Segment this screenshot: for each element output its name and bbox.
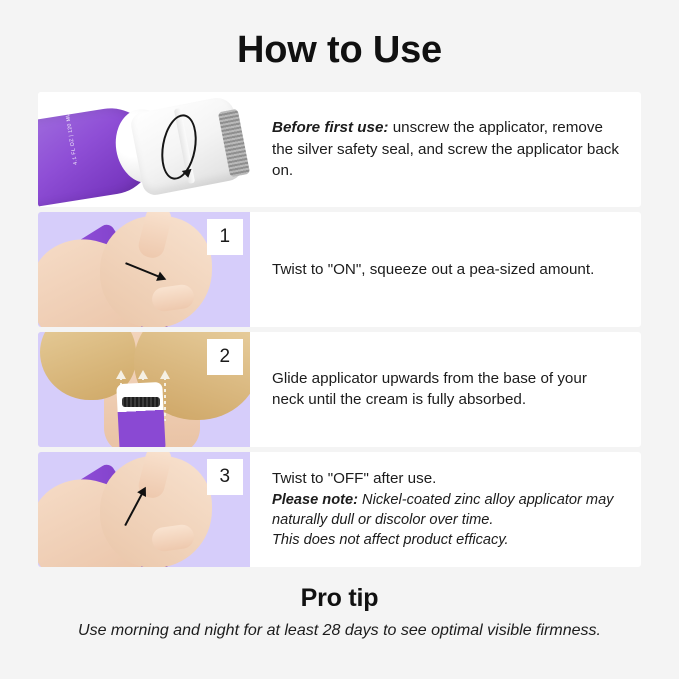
step-text-3: Twist to "OFF" after use. Please note: N…: [250, 452, 641, 567]
step-text-before-first-use: Before first use: unscrew the applicator…: [250, 92, 641, 207]
step-image-applicator-gliding-up-neck: 2: [38, 332, 250, 447]
page-title: How to Use: [0, 0, 679, 71]
how-to-use-infographic: How to Use 4.1 FL OZ | 120 ML Before fir: [0, 0, 679, 679]
step-image-hands-twisting-applicator-on: Hydrafirm APPLICATOR 1: [38, 212, 250, 327]
step-card-3: Hydrafirm APPLICATOR 3 Twist to "OFF" af…: [38, 452, 641, 567]
applicator-metal-roller: [122, 397, 160, 407]
step-text-2: Glide applicator upwards from the base o…: [250, 332, 641, 447]
step-card-1: Hydrafirm APPLICATOR 1 Twist to "ON", sq…: [38, 212, 641, 327]
step-instruction: Twist to "ON", squeeze out a pea-sized a…: [272, 259, 623, 281]
step-image-tube-and-applicator-unscrew: 4.1 FL OZ | 120 ML: [38, 92, 250, 207]
pro-tip-heading: Pro tip: [0, 584, 679, 613]
step-note-second-line: This does not affect product efficacy.: [272, 530, 623, 550]
product-applicator: [116, 382, 166, 447]
step-card-before-first-use: 4.1 FL OZ | 120 ML Before first use: uns…: [38, 92, 641, 207]
upward-arrow-icon: [164, 377, 166, 421]
pro-tip-text: Use morning and night for at least 28 da…: [0, 622, 679, 640]
step-number-badge: 3: [207, 459, 243, 495]
steps-list: 4.1 FL OZ | 120 ML Before first use: uns…: [38, 92, 641, 567]
illustration-unscrew-applicator: 4.1 FL OZ | 120 ML: [38, 92, 250, 207]
step-instruction: Glide applicator upwards from the base o…: [272, 368, 623, 411]
step-card-2: 2 Glide applicator upwards from the base…: [38, 332, 641, 447]
step-note: Please note: Nickel-coated zinc alloy ap…: [272, 490, 623, 530]
step-number-badge: 2: [207, 339, 243, 375]
step-instruction-lead: Before first use:: [272, 119, 388, 136]
step-instruction: Twist to "OFF" after use.: [272, 468, 623, 490]
step-text-1: Twist to "ON", squeeze out a pea-sized a…: [250, 212, 641, 327]
pro-tip-section: Pro tip Use morning and night for at lea…: [0, 584, 679, 640]
step-number-badge: 1: [207, 219, 243, 255]
step-instruction: Before first use: unscrew the applicator…: [272, 117, 623, 182]
step-image-hands-twisting-applicator-off: Hydrafirm APPLICATOR 3: [38, 452, 250, 567]
step-note-lead: Please note:: [272, 492, 358, 508]
